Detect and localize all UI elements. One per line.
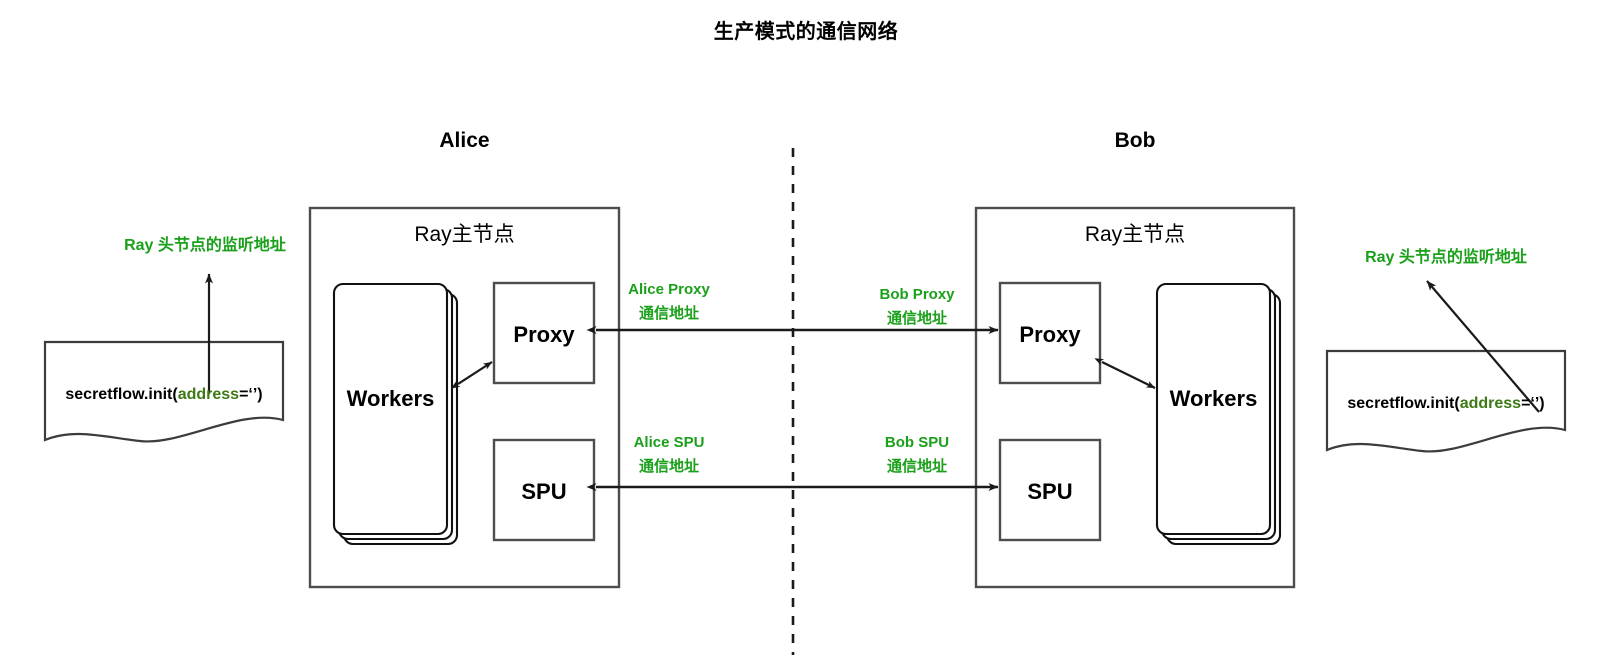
alice-init-code-suffix: =‘’) [239,386,263,403]
alice-init-code-keyword: address [178,386,239,403]
bob-spu-label: SPU [1000,478,1100,506]
alice-spu-link-label-line1: Alice SPU [598,434,740,453]
alice-proxy-label: Proxy [494,321,594,349]
bob-note-annotation: Ray 头节点的监听地址 [1296,248,1596,268]
bob-proxy-label: Proxy [1000,321,1100,349]
alice-init-code-prefix: secretflow.init( [65,386,177,403]
bob-init-code: secretflow.init(address=‘’) [1327,394,1565,414]
party-title-bob: Bob [976,128,1294,154]
bob-spu-link-label-line2: 通信地址 [846,458,988,477]
alice-proxy-link-label-line1: Alice Proxy [598,281,740,300]
bob-workers-label: Workers [1157,385,1270,413]
alice-proxy-link-label-line2: 通信地址 [598,305,740,324]
alice-note-annotation: Ray 头节点的监听地址 [55,236,355,256]
bob-ray-head-label: Ray主节点 [976,222,1294,248]
alice-init-code: secretflow.init(address=‘’) [45,385,283,405]
bob-proxy-link-label-line2: 通信地址 [846,310,988,329]
bob-init-code-keyword: address [1460,395,1521,412]
bob-init-code-suffix: =‘’) [1521,395,1545,412]
bob-init-code-prefix: secretflow.init( [1347,395,1459,412]
diagram-canvas: 生产模式的通信网络 Alice Bob Ray主节点 Ray主节点 Worker… [0,0,1612,672]
alice-spu-link-label-line2: 通信地址 [598,458,740,477]
alice-spu-label: SPU [494,478,594,506]
bob-proxy-link-label-line1: Bob Proxy [846,286,988,305]
alice-ray-head-label: Ray主节点 [310,222,619,248]
alice-workers-label: Workers [334,385,447,413]
bob-spu-link-label-line1: Bob SPU [846,434,988,453]
page-title: 生产模式的通信网络 [0,20,1612,45]
diagram-vector-layer [0,0,1612,672]
party-title-alice: Alice [310,128,619,154]
